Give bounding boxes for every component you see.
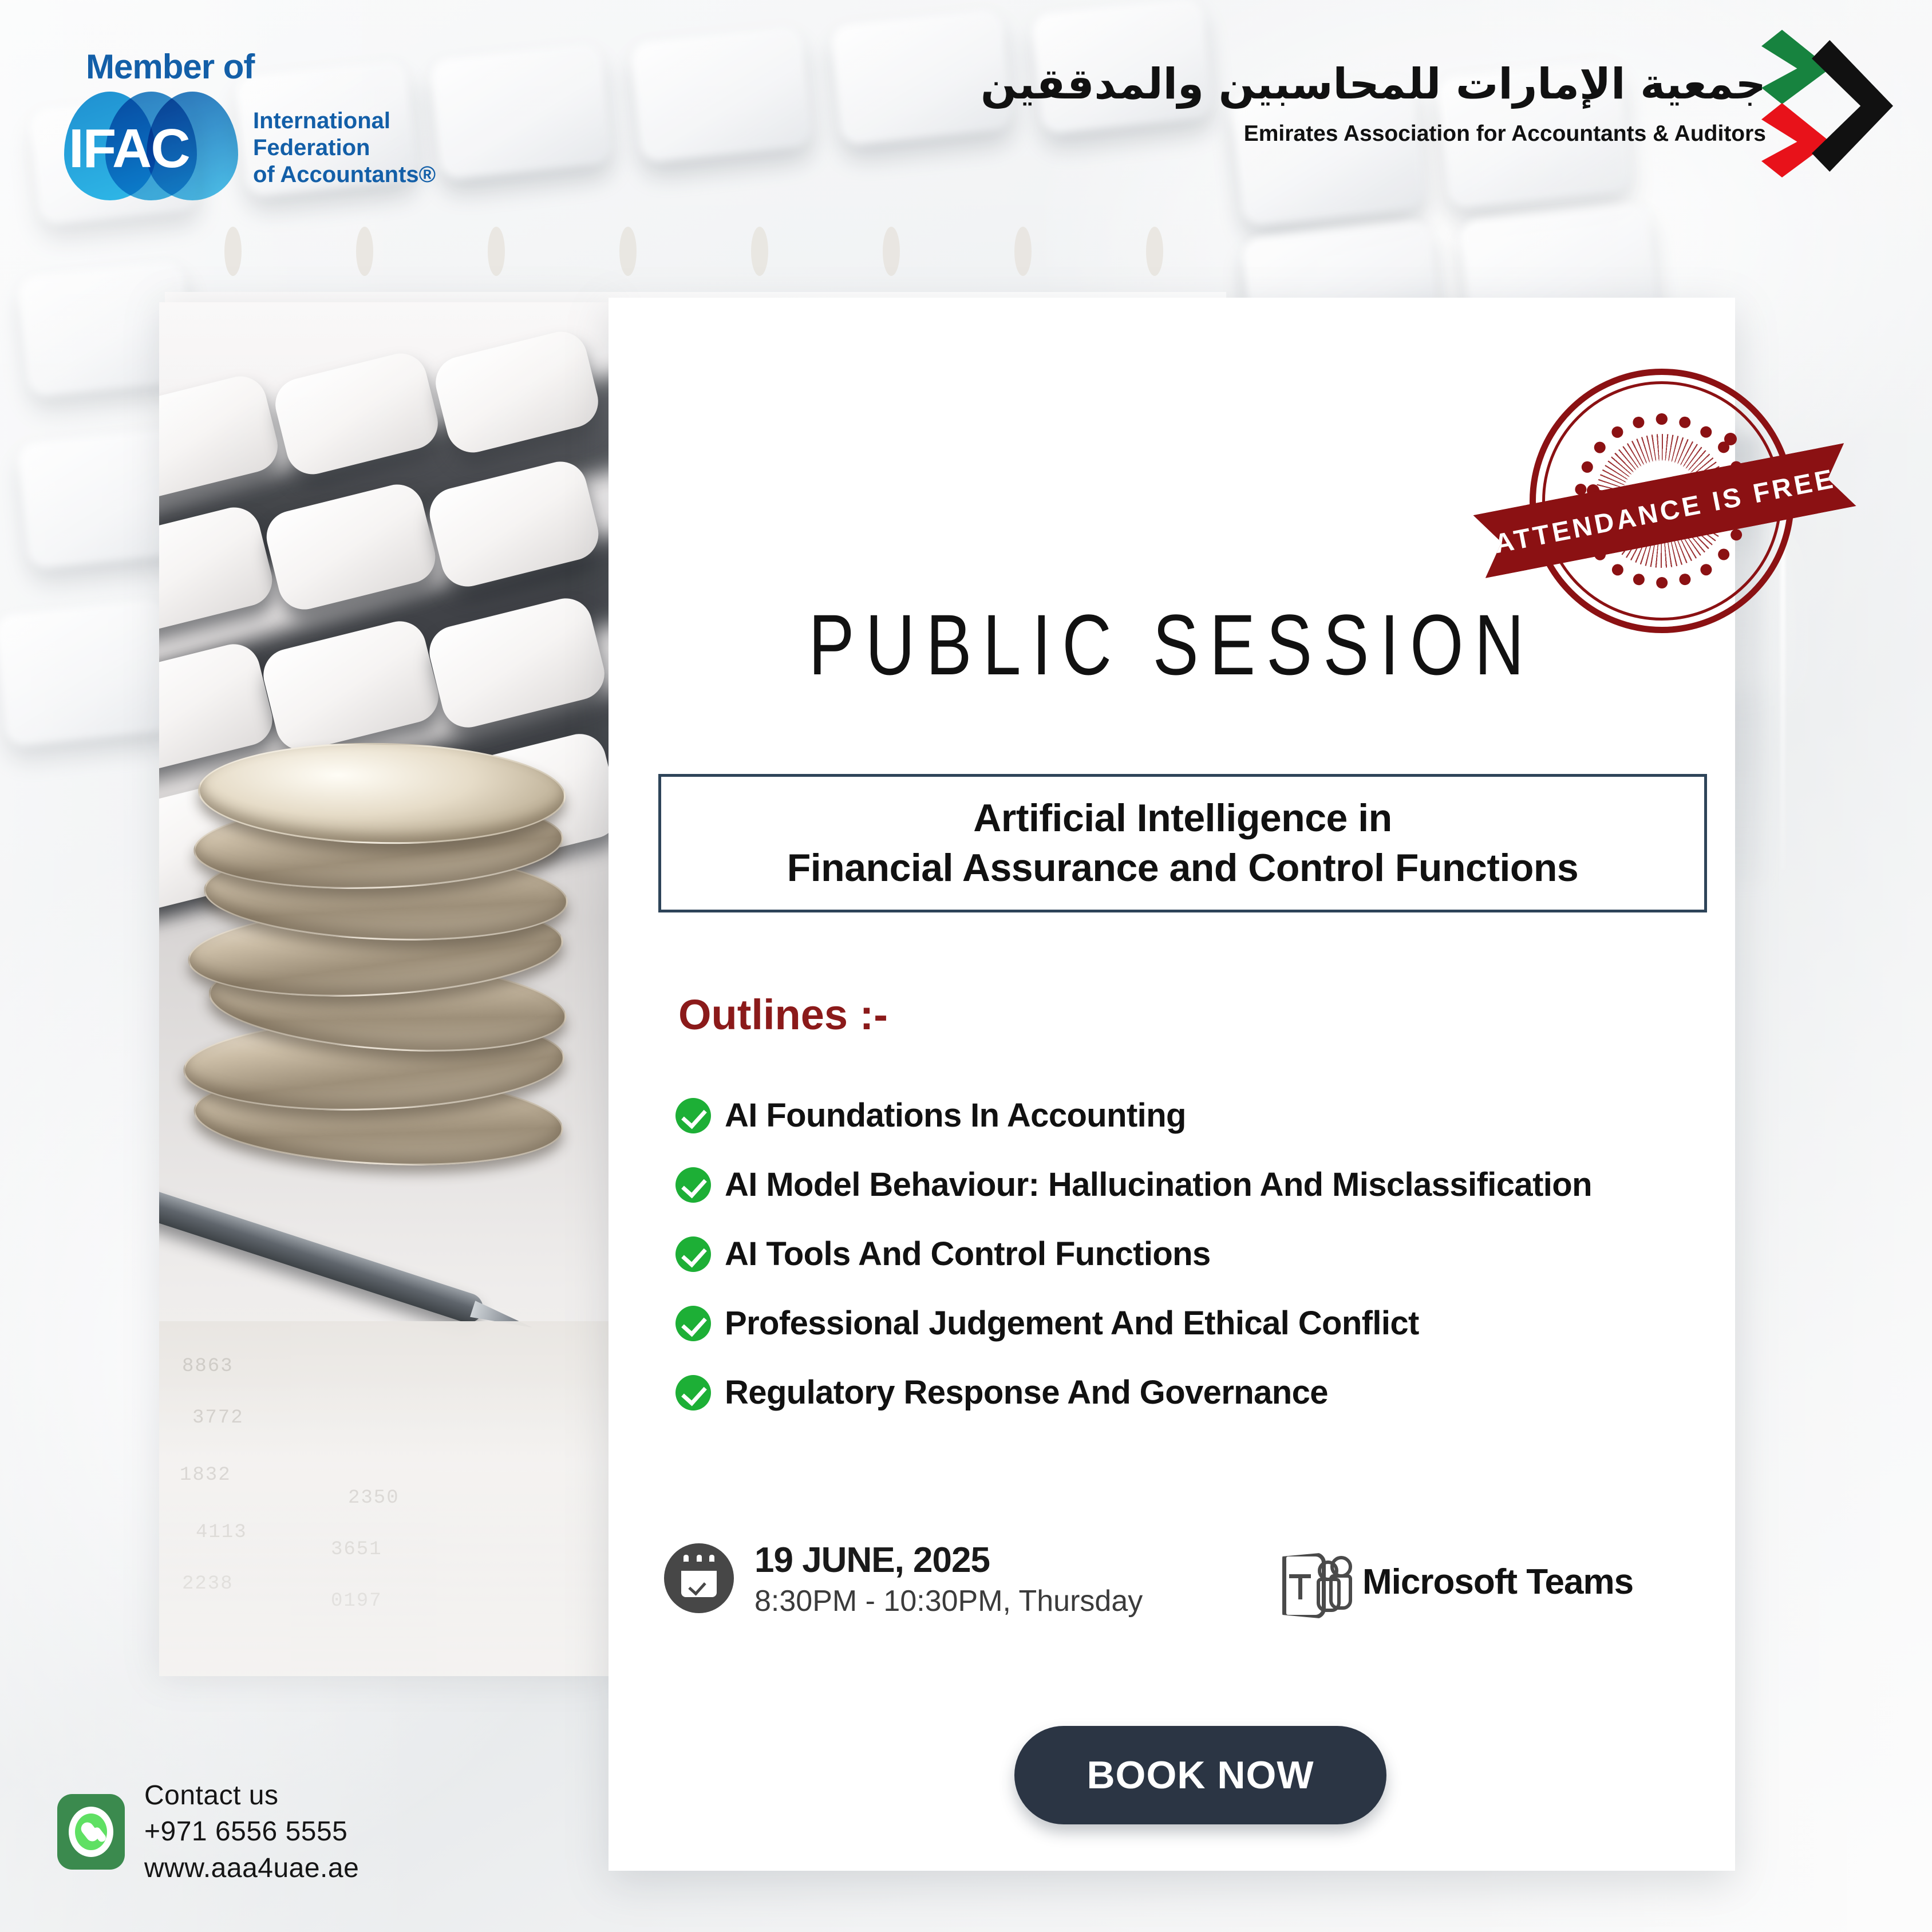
contact-phone[interactable]: +971 6556 5555	[144, 1814, 359, 1850]
ifac-full-name-line3: of Accountants®	[253, 161, 436, 188]
outlines-list: AI Foundations In Accounting AI Model Be…	[675, 1096, 1706, 1443]
contact-details: Contact us +971 6556 5555 www.aaa4uae.ae	[144, 1777, 359, 1886]
outline-label: Regulatory Response And Governance	[725, 1373, 1328, 1412]
coins-keyboard-photo: 8863 3772 1832 4113 2238 0197 3651 2350	[159, 302, 611, 1676]
outline-label: AI Foundations In Accounting	[725, 1096, 1186, 1135]
association-logo: جمعية الإمارات للمحاسبين والمدققين Emira…	[1211, 30, 1926, 196]
contact-website[interactable]: www.aaa4uae.ae	[144, 1850, 359, 1886]
list-item: AI Model Behaviour: Hallucination And Mi…	[675, 1165, 1706, 1204]
chevron-mark-icon	[1761, 30, 1893, 179]
list-item: Regulatory Response And Governance	[675, 1373, 1706, 1412]
check-circle-icon	[675, 1167, 711, 1203]
session-subtitle-line2: Financial Assurance and Control Function…	[787, 843, 1579, 893]
page-title: PUBLIC SESSION	[721, 595, 1622, 694]
list-item: Professional Judgement And Ethical Confl…	[675, 1304, 1706, 1342]
microsoft-teams-icon	[1281, 1548, 1345, 1615]
event-meta-row: 19 JUNE, 2025 8:30PM - 10:30PM, Thursday…	[664, 1540, 1694, 1654]
event-time: 8:30PM - 10:30PM, Thursday	[754, 1584, 1143, 1618]
check-circle-icon	[675, 1375, 711, 1411]
ifac-full-name-line2: Federation	[253, 135, 436, 161]
session-subtitle-line1: Artificial Intelligence in	[973, 793, 1392, 843]
outline-label: AI Model Behaviour: Hallucination And Mi…	[725, 1165, 1592, 1204]
calendar-icon	[664, 1543, 734, 1613]
decorative-dot-row	[224, 239, 1163, 262]
outline-label: AI Tools And Control Functions	[725, 1235, 1211, 1273]
outline-label: Professional Judgement And Ethical Confl…	[725, 1304, 1419, 1342]
ifac-full-name: International Federation of Accountants®	[253, 108, 436, 189]
association-name-arabic: جمعية الإمارات للمحاسبين والمدققين	[981, 60, 1766, 109]
ifac-logo: Member of IFAC International Federation …	[41, 34, 442, 206]
platform-label: Microsoft Teams	[1362, 1562, 1633, 1602]
contact-block: Contact us +971 6556 5555 www.aaa4uae.ae	[57, 1777, 359, 1886]
session-subtitle-box: Artificial Intelligence in Financial Ass…	[658, 774, 1707, 912]
outlines-heading: Outlines :-	[678, 990, 888, 1039]
list-item: AI Foundations In Accounting	[675, 1096, 1706, 1135]
poster-canvas: 8863 3772 1832 4113 2238 0197 3651 2350 …	[0, 0, 1932, 1932]
contact-heading: Contact us	[144, 1777, 359, 1814]
check-circle-icon	[675, 1306, 711, 1341]
whatsapp-icon[interactable]	[57, 1794, 125, 1870]
list-item: AI Tools And Control Functions	[675, 1235, 1706, 1273]
check-circle-icon	[675, 1098, 711, 1133]
ifac-full-name-line1: International	[253, 108, 436, 135]
association-name-english: Emirates Association for Accountants & A…	[1244, 121, 1766, 147]
event-date: 19 JUNE, 2025	[754, 1540, 1143, 1581]
event-datetime: 19 JUNE, 2025 8:30PM - 10:30PM, Thursday	[754, 1540, 1143, 1618]
ifac-acronym: IFAC	[69, 117, 189, 180]
book-now-button[interactable]: BOOK NOW	[1014, 1726, 1386, 1824]
check-circle-icon	[675, 1236, 711, 1272]
platform-block: Microsoft Teams	[1281, 1548, 1633, 1615]
ifac-member-of-label: Member of	[86, 47, 254, 86]
